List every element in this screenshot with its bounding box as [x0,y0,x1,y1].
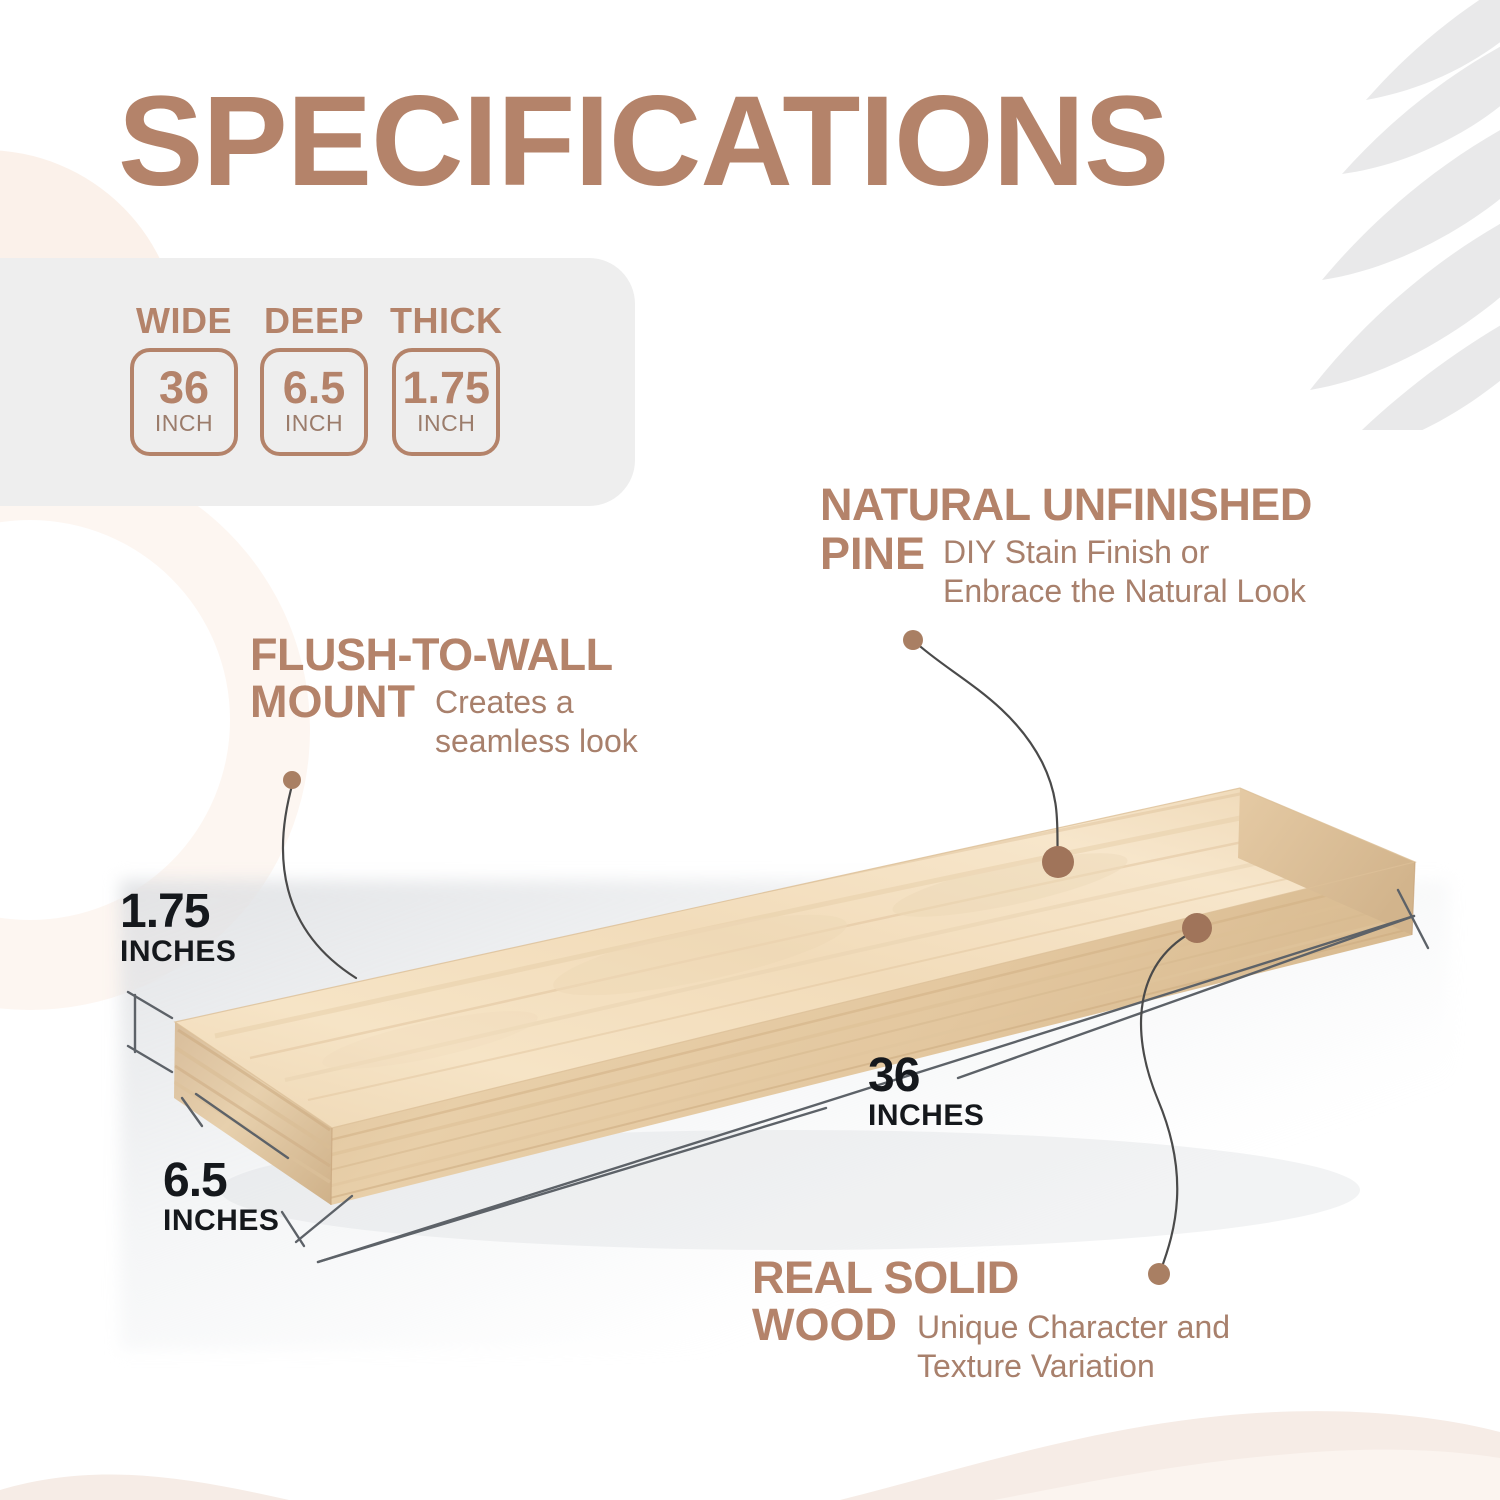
spec-value-wide: 36 [159,367,209,410]
callout-flush-head-line2: MOUNT [250,679,415,726]
dimension-value-width: 36 [868,1052,984,1100]
spec-unit-thick: INCH [417,410,475,437]
spec-summary-panel: WIDE 36 INCH DEEP 6.5 INCH THICK 1.75 IN… [0,258,635,506]
spec-box-thick: 1.75 INCH [392,348,500,456]
dimension-value-thickness: 1.75 [120,888,236,936]
leader-line-pine [914,641,1058,860]
spec-unit-deep: INCH [285,410,343,437]
dimension-label-width: 36 INCHES [868,1052,984,1132]
page-title: SPECIFICATIONS [118,78,1168,206]
dimension-label-thickness: 1.75 INCHES [120,888,236,968]
spec-cell-wide: WIDE 36 INCH [130,300,238,456]
spec-cell-deep: DEEP 6.5 INCH [260,300,368,456]
spec-label-deep: DEEP [264,300,364,342]
dimension-unit-width: INCHES [868,1100,984,1132]
spec-label-wide: WIDE [136,300,232,342]
dimension-label-depth: 6.5 INCHES [163,1157,279,1237]
dimension-value-depth: 6.5 [163,1157,279,1205]
callout-wood-head-line2: WOOD [752,1302,897,1349]
dimension-unit-depth: INCHES [163,1205,279,1237]
spec-label-thick: THICK [390,300,503,342]
callout-wood-body: Unique Character and Texture Variation [917,1308,1337,1386]
leader-line-flush [283,782,356,978]
width-line-left [318,1108,826,1262]
leader-line-wood [1141,930,1196,1272]
leader-dot-wood-target [1182,913,1212,943]
decorative-circle-inner [0,520,230,920]
spec-cell-thick: THICK 1.75 INCH [390,300,503,456]
tick-depth-end [282,1212,304,1246]
callout-pine-head-line2: PINE [820,531,925,578]
callout-flush-body: Creates a seamless look [435,683,695,761]
spec-value-deep: 6.5 [283,367,346,410]
tick-depth-start [182,1098,202,1126]
callout-real-solid-wood: REAL SOLID WOOD Unique Character and Tex… [752,1255,1412,1386]
callout-flush-to-wall-mount: FLUSH-TO-WALL MOUNT Creates a seamless l… [250,632,780,761]
spec-box-wide: 36 INCH [130,348,238,456]
tick-thickness-bottom [128,1046,172,1072]
callout-flush-head-line1: FLUSH-TO-WALL [250,632,780,679]
spec-unit-wide: INCH [155,410,213,437]
tick-depth-cross [296,1196,352,1242]
spec-box-deep: 6.5 INCH [260,348,368,456]
tick-thickness-top [128,992,172,1018]
leader-dot-pine-label [903,630,923,650]
callout-pine-head-line1: NATURAL UNFINISHED [820,482,1420,529]
callout-wood-head-line1: REAL SOLID [752,1255,1412,1302]
leader-dot-flush-label [283,771,301,789]
callout-natural-unfinished-pine: NATURAL UNFINISHED PINE DIY Stain Finish… [820,482,1420,611]
palm-leaf-shadow-icon [1130,0,1500,430]
dimension-unit-thickness: INCHES [120,936,236,968]
spec-row: WIDE 36 INCH DEEP 6.5 INCH THICK 1.75 IN… [130,300,503,456]
callout-pine-body: DIY Stain Finish or Enbrace the Natural … [943,533,1323,611]
width-line-right [958,916,1414,1078]
specifications-infographic: SPECIFICATIONS WIDE 36 INCH DEEP 6.5 INC… [0,0,1500,1500]
leader-dot-pine-target [1042,846,1074,878]
spec-value-thick: 1.75 [402,367,490,410]
tick-width-right [1398,890,1428,948]
